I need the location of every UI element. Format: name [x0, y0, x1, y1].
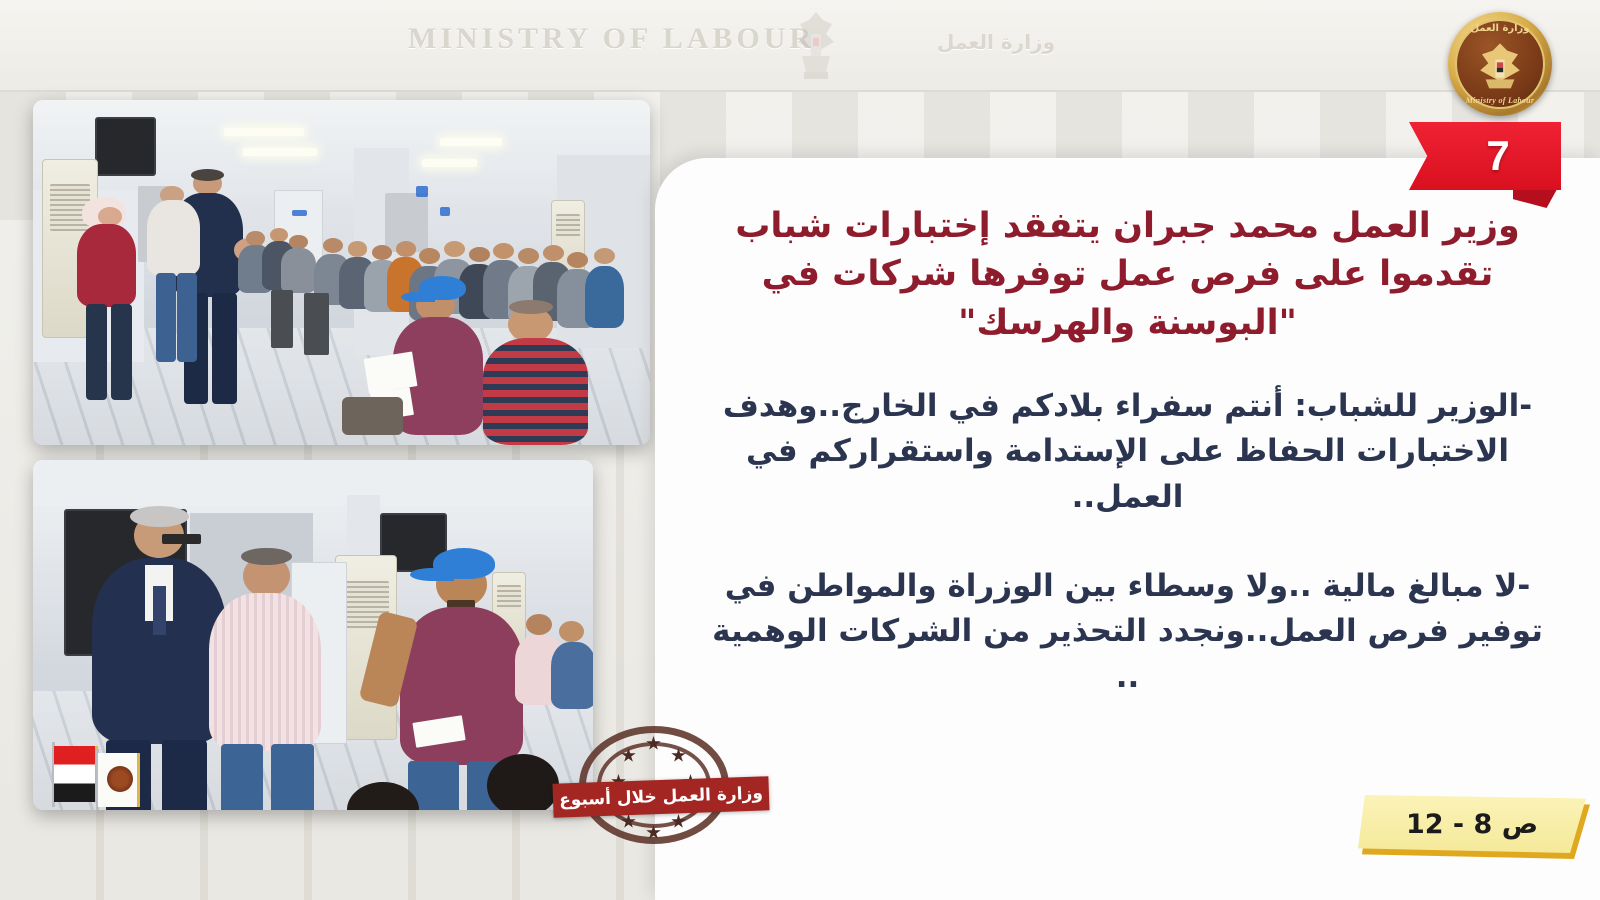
- photo-minister-addressing-applicants: [33, 100, 650, 445]
- ministry-seal-icon: وزارة العمل Ministry of Labour: [1448, 12, 1552, 116]
- page-badge-label: ص 8 - 12: [1358, 795, 1586, 853]
- page-reference-badge: ص 8 - 12: [1358, 795, 1586, 857]
- content-card: وزير العمل محمد جبران يتفقد إختبارات شبا…: [655, 158, 1600, 900]
- seal-english-label: Ministry of Labour: [1448, 96, 1552, 105]
- facade-title-en: MINISTRY OF LABOUR: [408, 22, 815, 56]
- item-number-ribbon: 7: [1409, 122, 1561, 190]
- seal-arabic-label: وزارة العمل: [1448, 23, 1552, 34]
- facade-title-ar: وزارة العمل: [937, 30, 1055, 54]
- weekly-stamp: وزارة العمل خلال أسبوع: [553, 722, 769, 846]
- egypt-eagle-emblem-icon: [790, 8, 842, 86]
- body-paragraph-2: -لا مبالغ مالية ..ولا وسطاء بين الوزراة …: [707, 564, 1548, 700]
- item-number: 7: [1409, 122, 1561, 190]
- page-title: وزير العمل محمد جبران يتفقد إختبارات شبا…: [697, 202, 1558, 347]
- seal-eagle-icon: [1472, 38, 1528, 92]
- body-paragraph-1: -الوزير للشباب: أنتم سفراء بلادكم في الخ…: [707, 384, 1548, 520]
- photo-minister-listening-to-citizen: [33, 460, 593, 810]
- stamp-label: وزارة العمل خلال أسبوع: [552, 776, 769, 818]
- poster-canvas: MINISTRY OF LABOUR وزارة العمل: [0, 0, 1600, 900]
